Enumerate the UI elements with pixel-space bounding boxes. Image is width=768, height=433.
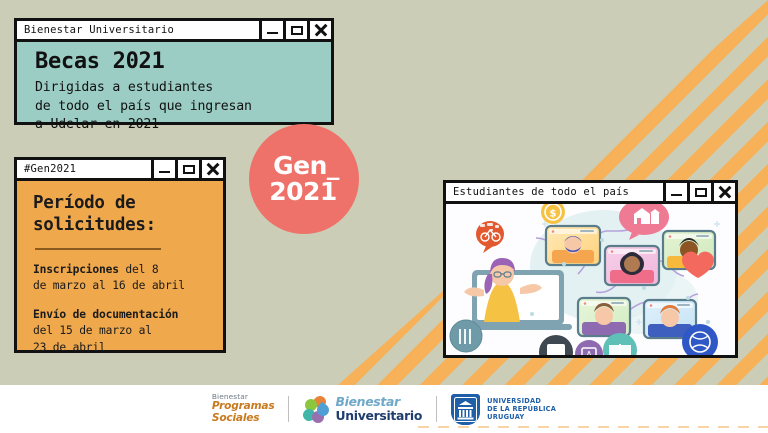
periodo-heading-line-1: Período de [33, 192, 223, 214]
udelar-line-3: URUGUAY [487, 413, 556, 421]
window-controls-becas [259, 21, 331, 39]
window-becas[interactable]: Bienestar Universitario Becas 2021 Dirig… [14, 18, 334, 125]
envio-line-3: 23 de abril [33, 341, 106, 354]
periodo-block-envio: Envío de documentación del 15 de marzo a… [33, 307, 223, 356]
maximize-icon [183, 165, 195, 174]
svg-text:A: A [586, 350, 592, 355]
participant-card-1 [546, 226, 600, 265]
food-icon [450, 320, 482, 352]
maximize-icon [695, 188, 707, 197]
inscripciones-rest: del 8 [119, 263, 159, 276]
titlebar-estudiantes: Estudiantes de todo el país [446, 183, 735, 204]
bu-line-1: Bienestar [335, 395, 422, 409]
pinwheel-icon [303, 396, 329, 422]
titlebar-becas: Bienestar Universitario [17, 21, 331, 42]
close-button[interactable] [307, 21, 331, 39]
divider-rule [35, 248, 161, 250]
logo-bienestar-universitario: Bienestar Universitario [303, 395, 422, 422]
periodo-block-inscripciones: Inscripciones del 8 de marzo al 16 de ab… [33, 262, 223, 295]
periodo-heading-line-2: solicitudes: [33, 214, 223, 236]
udelar-shield-icon [451, 394, 480, 425]
maximize-button[interactable] [687, 183, 711, 201]
udelar-line-2: DE LA REPÚBLICA [487, 405, 556, 413]
close-icon [314, 24, 327, 37]
badge-line-2: 2021 [269, 179, 337, 205]
gen2021-badge: Gen_ 2021 [249, 124, 359, 234]
close-icon [718, 186, 731, 199]
envio-line-2: del 15 de marzo al [33, 324, 152, 337]
poster-canvas: Bienestar Universitario Becas 2021 Dirig… [0, 0, 768, 433]
window-title-estudiantes: Estudiantes de todo el país [446, 183, 663, 201]
envio-label: Envío de documentación [33, 308, 178, 321]
close-icon [206, 163, 219, 176]
window-estudiantes[interactable]: Estudiantes de todo el país [443, 180, 738, 358]
maximize-button[interactable] [175, 160, 199, 178]
maximize-button[interactable] [283, 21, 307, 39]
window-body-estudiantes: $ [446, 204, 735, 355]
window-title-becas: Bienestar Universitario [17, 21, 259, 39]
svg-text:$: $ [550, 209, 557, 220]
minimize-button[interactable] [259, 21, 283, 39]
close-button[interactable] [199, 160, 223, 178]
minimize-icon [267, 32, 278, 35]
participant-card-4 [578, 298, 630, 336]
close-button[interactable] [711, 183, 735, 201]
footer-logos: Bienestar Programas Sociales Bienestar U… [0, 385, 768, 433]
minimize-button[interactable] [663, 183, 687, 201]
inscripciones-line-2: de marzo al 16 de abril [33, 279, 185, 292]
inscripciones-label: Inscripciones [33, 263, 119, 276]
window-body-becas: Becas 2021 Dirigidas a estudiantes de to… [17, 42, 331, 135]
window-controls-periodo [151, 160, 223, 178]
minimize-icon [671, 194, 682, 197]
becas-line-1: Dirigidas a estudiantes [35, 79, 331, 98]
udelar-line-1: UNIVERSIDAD [487, 397, 556, 405]
window-periodo-solicitudes[interactable]: #Gen2021 Período de solicitudes: Inscrip… [14, 157, 226, 353]
titlebar-periodo: #Gen2021 [17, 160, 223, 181]
becas-heading: Becas 2021 [35, 49, 331, 74]
videocall-illustration: $ [446, 204, 735, 355]
window-title-periodo: #Gen2021 [17, 160, 151, 178]
bps-line-3: Sociales [212, 413, 275, 425]
bu-line-2: Universitario [335, 409, 422, 423]
footer-divider-2 [436, 396, 437, 422]
footer-divider-1 [288, 396, 289, 422]
window-controls-estudiantes [663, 183, 735, 201]
becas-line-2: de todo el país que ingresan [35, 98, 331, 117]
minimize-icon [159, 171, 170, 174]
minimize-button[interactable] [151, 160, 175, 178]
maximize-icon [291, 26, 303, 35]
window-body-periodo: Período de solicitudes: Inscripciones de… [17, 181, 223, 356]
badge-line-1: Gen_ [273, 153, 339, 179]
participant-card-2 [605, 246, 659, 285]
logo-universidad-de-la-republica: UNIVERSIDAD DE LA REPÚBLICA URUGUAY [451, 394, 556, 425]
logo-bienestar-programas-sociales: Bienestar Programas Sociales [212, 393, 275, 425]
udelar-building-icon [451, 394, 480, 425]
